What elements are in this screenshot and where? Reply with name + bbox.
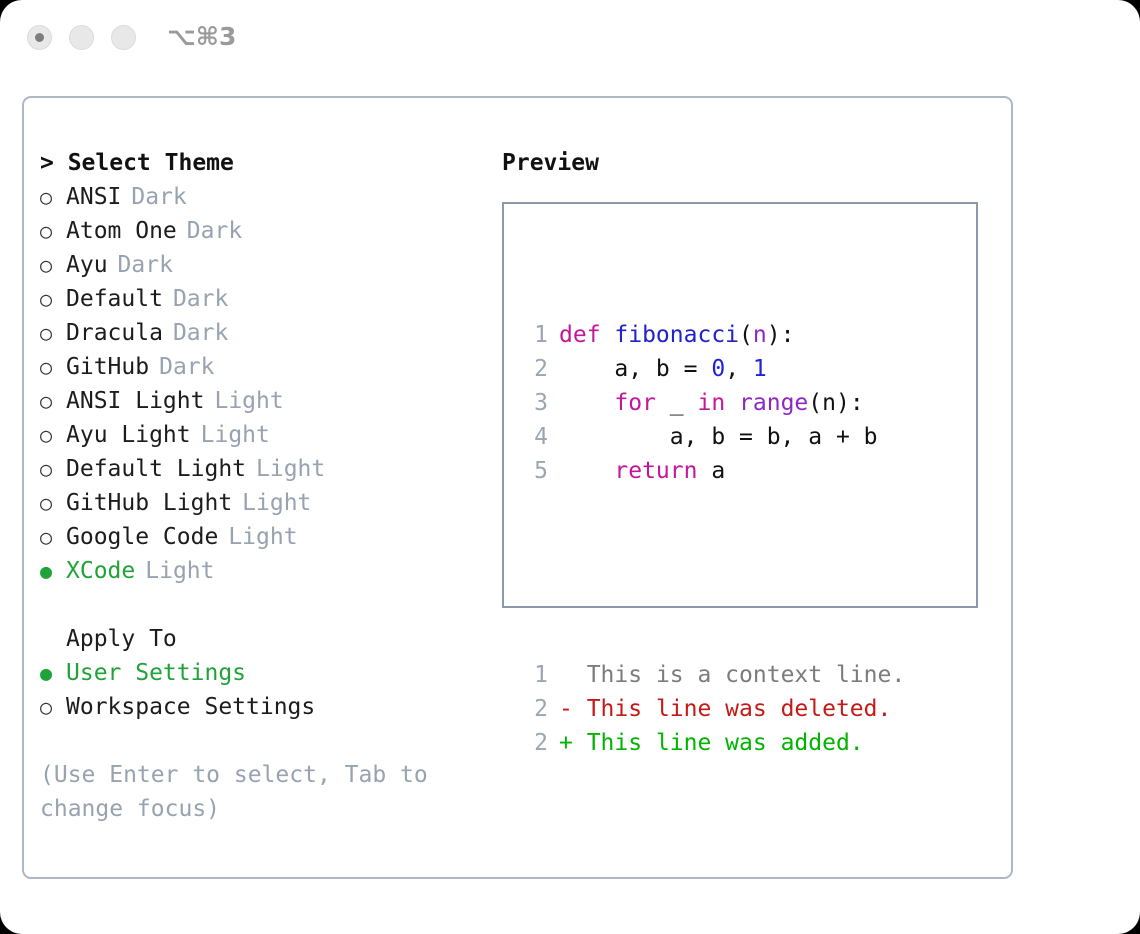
line-number: 5: [518, 454, 548, 488]
theme-option[interactable]: ○DefaultDark: [40, 282, 480, 316]
code-line: 2 a, b = 0, 1: [518, 352, 905, 386]
radio-selected-icon[interactable]: ●: [40, 554, 66, 588]
diff-line-content: This line was added.: [573, 726, 864, 760]
preview-column: Preview 1def fibonacci(n):2 a, b = 0, 13…: [502, 146, 1002, 608]
diff-line: 2- This line was deleted.: [518, 692, 905, 726]
theme-option-kind: Light: [242, 486, 311, 520]
theme-option-kind: Light: [256, 452, 325, 486]
theme-option[interactable]: ○Ayu LightLight: [40, 418, 480, 452]
active-indicator-dot: [35, 33, 44, 42]
theme-option[interactable]: ○Atom OneDark: [40, 214, 480, 248]
theme-option-kind: Dark: [131, 180, 186, 214]
code-sample: 1def fibonacci(n):2 a, b = 0, 13 for _ i…: [518, 318, 905, 488]
code-token: [559, 458, 614, 484]
preview-heading: Preview: [502, 146, 1002, 180]
diff-line-content: This is a context line.: [573, 658, 905, 692]
radio-unselected-icon[interactable]: ○: [40, 486, 66, 520]
code-line-content: return a: [559, 454, 725, 488]
diff-line: 2+ This line was added.: [518, 726, 905, 760]
diff-line-content: This line was deleted.: [573, 692, 892, 726]
code-token: a, b =: [559, 356, 711, 382]
radio-unselected-icon[interactable]: ○: [40, 690, 66, 724]
code-token: for: [614, 390, 656, 416]
code-token: n: [753, 322, 767, 348]
code-token: fibonacci: [614, 322, 739, 348]
theme-option[interactable]: ●XCodeLight: [40, 554, 480, 588]
apply-to-option-name: Workspace Settings: [66, 690, 315, 724]
theme-option-name: ANSI Light: [66, 384, 204, 418]
code-token: 0: [711, 356, 725, 382]
radio-unselected-icon[interactable]: ○: [40, 180, 66, 214]
theme-option-name: Ayu Light: [66, 418, 191, 452]
theme-option-kind: Dark: [173, 316, 228, 350]
window-control-dot-3[interactable]: [111, 25, 136, 50]
code-diff-separator: [518, 556, 905, 590]
code-token: ):: [767, 322, 795, 348]
theme-option[interactable]: ○ANSI LightLight: [40, 384, 480, 418]
app-window: ⌥⌘3 > Select Theme ○ANSIDark○Atom OneDar…: [0, 0, 1140, 934]
theme-option-name: XCode: [66, 554, 135, 588]
apply-to-option[interactable]: ●User Settings: [40, 656, 480, 690]
theme-option-kind: Dark: [187, 214, 242, 248]
line-number: 2: [518, 726, 548, 760]
theme-option[interactable]: ○ANSIDark: [40, 180, 480, 214]
theme-option[interactable]: ○GitHubDark: [40, 350, 480, 384]
keyboard-shortcut-label: ⌥⌘3: [167, 22, 236, 51]
theme-option-kind: Light: [228, 520, 297, 554]
code-token: def: [559, 322, 614, 348]
theme-option-name: Default: [66, 282, 163, 316]
radio-unselected-icon[interactable]: ○: [40, 316, 66, 350]
select-theme-heading: > Select Theme: [40, 146, 480, 180]
line-number: 3: [518, 386, 548, 420]
theme-option-kind: Dark: [173, 282, 228, 316]
diff-sign: +: [559, 726, 573, 760]
code-token: ,: [725, 356, 753, 382]
code-line-content: def fibonacci(n):: [559, 318, 794, 352]
apply-to-option-name: User Settings: [66, 656, 246, 690]
theme-option[interactable]: ○Google CodeLight: [40, 520, 480, 554]
theme-option-name: Atom One: [66, 214, 177, 248]
code-line: 5 return a: [518, 454, 905, 488]
theme-option-kind: Dark: [118, 248, 173, 282]
radio-unselected-icon[interactable]: ○: [40, 350, 66, 384]
theme-option-name: Default Light: [66, 452, 246, 486]
code-token: a: [697, 458, 725, 484]
line-number: 1: [518, 658, 548, 692]
code-token: in: [697, 390, 725, 416]
preview-code: 1def fibonacci(n):2 a, b = 0, 13 for _ i…: [518, 250, 905, 828]
code-line-content: a, b = 0, 1: [559, 352, 767, 386]
code-token: (n):: [808, 390, 863, 416]
apply-to-list[interactable]: ●User Settings○Workspace Settings: [40, 656, 480, 724]
theme-option-name: Dracula: [66, 316, 163, 350]
line-number: 4: [518, 420, 548, 454]
code-token: (: [739, 322, 753, 348]
diff-sign: [559, 658, 573, 692]
code-token: _: [656, 390, 698, 416]
keyboard-hint-text: (Use Enter to select, Tab to change focu…: [40, 758, 440, 826]
radio-selected-icon[interactable]: ●: [40, 656, 66, 690]
diff-line: 1 This is a context line.: [518, 658, 905, 692]
radio-unselected-icon[interactable]: ○: [40, 418, 66, 452]
theme-option-kind: Dark: [159, 350, 214, 384]
code-token: 1: [753, 356, 767, 382]
code-line: 3 for _ in range(n):: [518, 386, 905, 420]
radio-unselected-icon[interactable]: ○: [40, 248, 66, 282]
code-line: 1def fibonacci(n):: [518, 318, 905, 352]
theme-list[interactable]: ○ANSIDark○Atom OneDark○AyuDark○DefaultDa…: [40, 180, 480, 588]
line-number: 1: [518, 318, 548, 352]
radio-unselected-icon[interactable]: ○: [40, 520, 66, 554]
code-token: [559, 390, 614, 416]
code-line-content: for _ in range(n):: [559, 386, 864, 420]
theme-option-name: Ayu: [66, 248, 108, 282]
code-token: return: [614, 458, 697, 484]
theme-option-name: Google Code: [66, 520, 218, 554]
diff-sample: 1 This is a context line.2- This line wa…: [518, 658, 905, 760]
preview-box: 1def fibonacci(n):2 a, b = 0, 13 for _ i…: [502, 202, 978, 608]
radio-unselected-icon[interactable]: ○: [40, 214, 66, 248]
code-token: range: [739, 390, 808, 416]
code-token: a, b = b, a + b: [559, 424, 878, 450]
apply-to-option[interactable]: ○Workspace Settings: [40, 690, 480, 724]
theme-option[interactable]: ○Default LightLight: [40, 452, 480, 486]
window-controls: [27, 25, 136, 50]
line-number: 2: [518, 692, 548, 726]
theme-option[interactable]: ○AyuDark: [40, 248, 480, 282]
theme-selector-column: > Select Theme ○ANSIDark○Atom OneDark○Ay…: [40, 146, 480, 826]
diff-sign: -: [559, 692, 573, 726]
theme-option-kind: Light: [214, 384, 283, 418]
radio-unselected-icon[interactable]: ○: [40, 384, 66, 418]
theme-option[interactable]: ○DraculaDark: [40, 316, 480, 350]
radio-unselected-icon[interactable]: ○: [40, 452, 66, 486]
theme-option-kind: Light: [201, 418, 270, 452]
code-line: 4 a, b = b, a + b: [518, 420, 905, 454]
theme-option[interactable]: ○GitHub LightLight: [40, 486, 480, 520]
line-number: 2: [518, 352, 548, 386]
apply-to-heading: Apply To: [40, 622, 480, 656]
window-control-dot-active[interactable]: [27, 25, 52, 50]
main-panel: > Select Theme ○ANSIDark○Atom OneDark○Ay…: [22, 96, 1013, 879]
code-token: [725, 390, 739, 416]
code-line-content: a, b = b, a + b: [559, 420, 878, 454]
window-control-dot-2[interactable]: [69, 25, 94, 50]
theme-option-name: ANSI: [66, 180, 121, 214]
radio-unselected-icon[interactable]: ○: [40, 282, 66, 316]
title-bar: ⌥⌘3: [0, 0, 1140, 78]
theme-option-name: GitHub: [66, 350, 149, 384]
theme-option-name: GitHub Light: [66, 486, 232, 520]
theme-option-kind: Light: [145, 554, 214, 588]
